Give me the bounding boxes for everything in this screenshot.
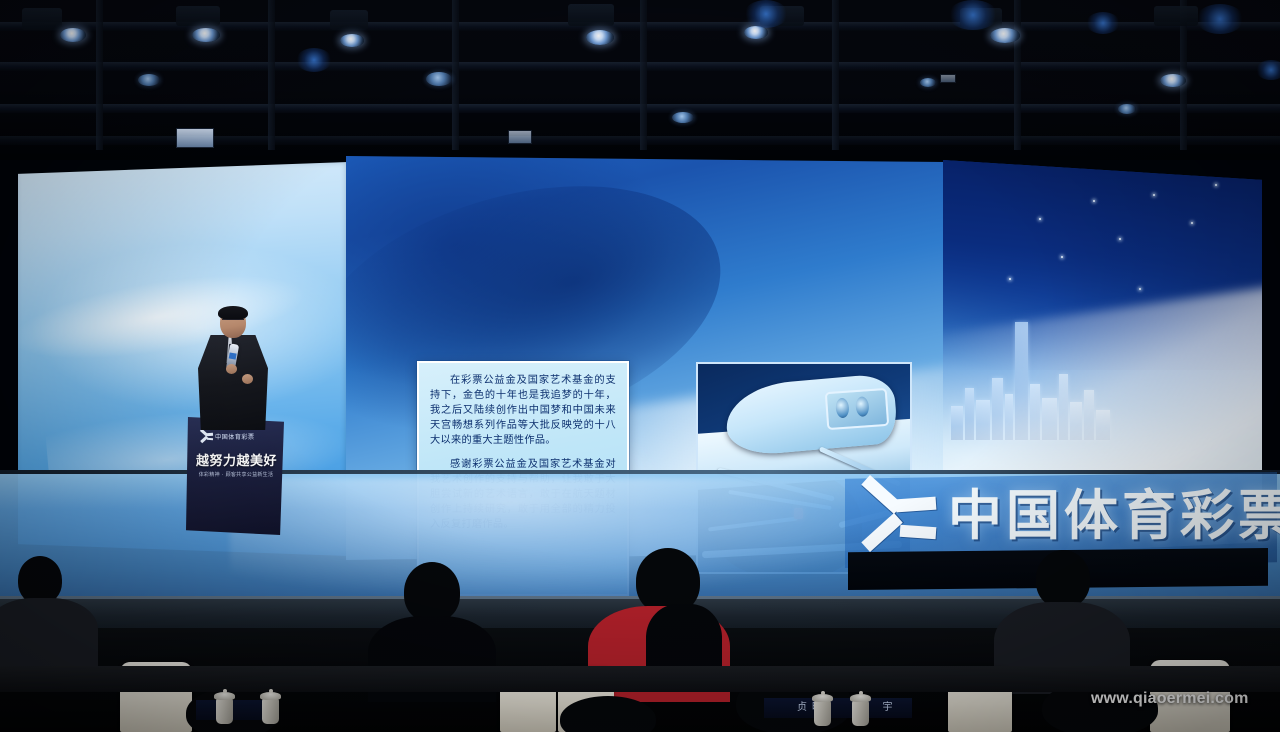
ceiling-monitor-panel	[508, 130, 532, 144]
audience-head	[18, 556, 62, 604]
audience-table	[0, 666, 1280, 692]
audience-area	[0, 520, 1280, 732]
teacup-icon	[852, 700, 869, 726]
teacup-icon	[216, 698, 233, 724]
lectern-subline: 体彩精神 · 顾客共享公益新生活	[196, 472, 276, 479]
stage-light-icon	[990, 28, 1020, 43]
capsule-window-icon	[825, 388, 889, 430]
stage-light-icon	[1160, 74, 1186, 87]
site-watermark: www.qiaoermei.com	[1091, 690, 1249, 708]
stage-light-icon	[426, 72, 452, 86]
ceiling-monitor-panel	[940, 74, 956, 83]
ceiling-lighting-rig	[0, 0, 1280, 160]
lectern-logo: 中国体育彩票	[200, 430, 255, 442]
audience-head	[1036, 550, 1090, 608]
nameplate: 宇	[868, 698, 912, 718]
eyeglasses-icon	[222, 319, 244, 326]
stage-light-icon	[60, 28, 86, 42]
speaker-person	[190, 308, 276, 430]
audience-head	[404, 562, 460, 622]
ceiling-monitor-panel	[176, 128, 214, 148]
sports-lottery-logo-icon	[200, 430, 212, 442]
stage-light-icon	[672, 112, 694, 123]
nameplate: 贞昭	[764, 698, 860, 718]
audience-shoulders	[0, 598, 98, 672]
lectern-slogan: 越努力越美好	[196, 455, 276, 469]
stage-light-icon	[192, 28, 220, 42]
stage-light-icon	[920, 78, 936, 87]
stage-photo: 在彩票公益金及国家艺术基金的支持下，金色的十年也是我追梦的十年，我之后又陆续创作…	[0, 0, 1280, 732]
slide-paragraph-1: 在彩票公益金及国家艺术基金的支持下，金色的十年也是我追梦的十年，我之后又陆续创作…	[430, 373, 616, 448]
lectern-logo-text: 中国体育彩票	[215, 432, 255, 441]
teacup-icon	[262, 698, 279, 724]
stage-light-icon	[1118, 104, 1136, 114]
stage-light-icon	[138, 74, 160, 86]
teacup-icon	[814, 700, 831, 726]
stage-light-icon	[340, 34, 364, 47]
stage-light-icon	[586, 30, 614, 45]
